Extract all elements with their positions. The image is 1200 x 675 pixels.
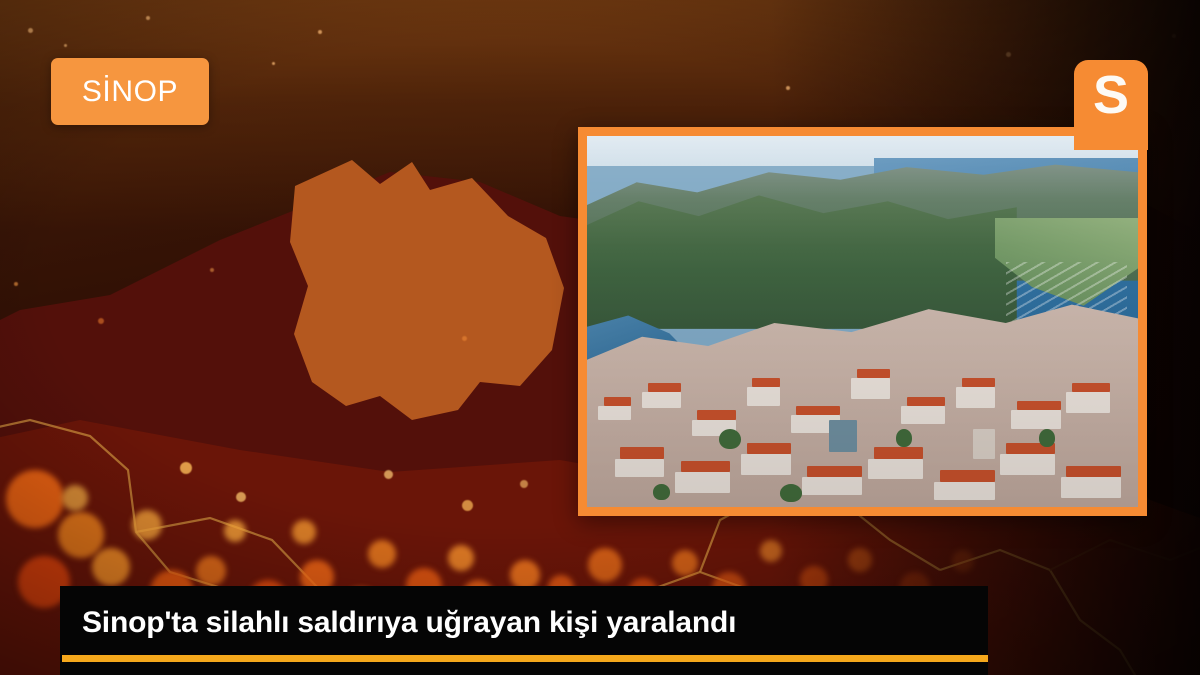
headline-bar: Sinop'ta silahlı saldırıya uğrayan kişi … xyxy=(60,592,988,654)
brand-logo[interactable]: S xyxy=(1074,60,1148,132)
brand-logo-glyph: S xyxy=(1093,68,1129,122)
news-graphic-card: SİNOP S xyxy=(0,0,1200,675)
headline-text: Sinop'ta silahlı saldırıya uğrayan kişi … xyxy=(60,606,736,640)
city-badge: SİNOP xyxy=(51,58,209,125)
city-badge-label: SİNOP xyxy=(82,77,178,107)
news-photo xyxy=(587,136,1138,507)
headline-accent-rule xyxy=(62,655,988,662)
news-photo-frame xyxy=(578,127,1147,516)
